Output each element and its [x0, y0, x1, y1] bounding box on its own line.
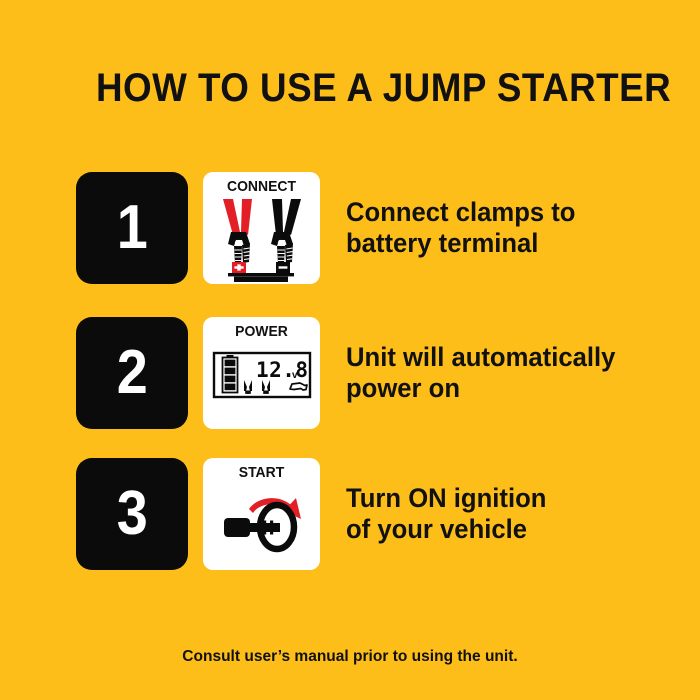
step-description-2-line1: Unit will automatically: [346, 342, 615, 373]
icon-caption-connect: CONNECT: [207, 179, 316, 196]
step-icon-card-1: CONNECT: [203, 172, 320, 284]
step-icon-card-2: POWER: [203, 317, 320, 429]
step-description-2: Unit will automatically power on: [346, 342, 615, 405]
step-number-1: 1: [116, 197, 147, 259]
ignition-key-turn-icon: [203, 482, 320, 568]
icon-caption-start: START: [207, 465, 316, 482]
step-description-1-line1: Connect clamps to: [346, 197, 575, 228]
step-item-3: 3 START: [76, 458, 636, 570]
step-number-tile-1: 1: [76, 172, 188, 284]
step-item-2: 2 POWER: [76, 317, 636, 429]
step-number-2: 2: [116, 342, 147, 404]
step-description-1-line2: battery terminal: [346, 228, 575, 259]
step-description-1: Connect clamps to battery terminal: [346, 197, 575, 260]
battery-gauge: [222, 355, 237, 393]
step-description-2-line2: power on: [346, 373, 615, 404]
key-body: [224, 518, 280, 537]
lcd-display-icon: 12.8 v: [203, 341, 320, 427]
step-description-3-line2: of your vehicle: [346, 514, 546, 545]
positive-terminal-marker: [232, 262, 246, 273]
voltage-value: 12.8: [256, 358, 309, 382]
step-number-tile-3: 3: [76, 458, 188, 570]
step-number-3: 3: [116, 483, 147, 545]
page-title: HOW TO USE A JUMP STARTER: [96, 68, 671, 108]
step-item-1: 1 CONNECT: [76, 172, 636, 284]
infographic-poster: HOW TO USE A JUMP STARTER 1 CONNECT: [0, 0, 700, 700]
jumper-clamps-on-battery-icon: [203, 196, 320, 282]
step-number-tile-2: 2: [76, 317, 188, 429]
footnote-disclaimer: Consult user’s manual prior to using the…: [11, 648, 690, 666]
step-description-3-line1: Turn ON ignition: [346, 483, 546, 514]
negative-terminal-marker: [276, 262, 290, 273]
step-description-3: Turn ON ignition of your vehicle: [346, 483, 546, 546]
step-icon-card-3: START: [203, 458, 320, 570]
voltage-unit: v: [292, 370, 298, 381]
icon-caption-power: POWER: [207, 324, 316, 341]
